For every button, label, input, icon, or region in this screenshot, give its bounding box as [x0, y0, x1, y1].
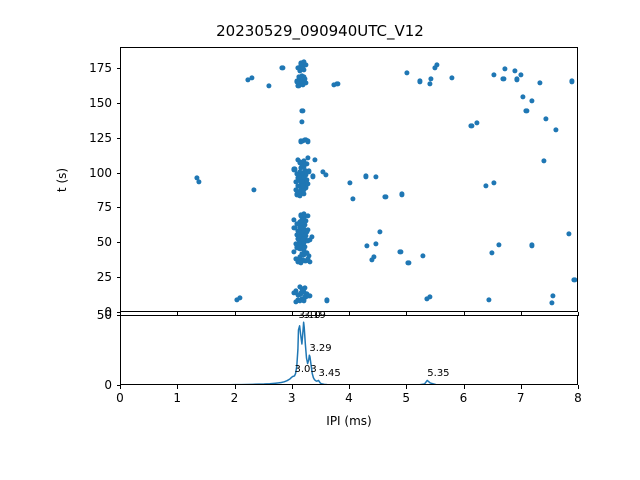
scatter-point — [428, 294, 433, 299]
x-tick-bottom — [120, 385, 121, 389]
peak-label: 3.03 — [294, 364, 316, 375]
scatter-point — [566, 231, 571, 236]
y-axis-label-top: t (s) — [55, 168, 69, 192]
scatter-point — [350, 196, 355, 201]
x-ticklabel: 7 — [517, 391, 525, 405]
x-ticklabel: 4 — [345, 391, 353, 405]
scatter-point — [325, 298, 330, 303]
x-ticklabel: 6 — [460, 391, 468, 405]
scatter-point — [434, 62, 439, 67]
y-tick-top — [117, 242, 121, 243]
x-ticklabel: 0 — [116, 391, 124, 405]
y-tick-top — [117, 68, 121, 69]
scatter-point — [377, 230, 382, 235]
scatter-point — [249, 75, 254, 80]
y-tick-top — [117, 207, 121, 208]
y-ticklabel-bottom: 0 — [0, 378, 112, 392]
scatter-point — [541, 158, 546, 163]
x-ticklabel: 8 — [574, 391, 582, 405]
scatter-point — [469, 124, 474, 129]
scatter-point — [551, 294, 556, 299]
scatter-point — [520, 94, 525, 99]
scatter-point — [572, 277, 577, 282]
y-tick-top — [117, 103, 121, 104]
scatter-point — [512, 68, 517, 73]
scatter-point — [310, 234, 315, 239]
x-tick-bottom — [292, 385, 293, 389]
scatter-point — [251, 188, 256, 193]
x-tick-bottom — [349, 385, 350, 389]
peak-label: 3.19 — [304, 310, 326, 321]
scatter-point — [492, 181, 497, 186]
scatter-point — [524, 108, 529, 113]
y-ticklabel-top: 175 — [0, 61, 112, 75]
y-ticklabel-top: 125 — [0, 131, 112, 145]
scatter-point — [537, 80, 542, 85]
scatter-point — [543, 117, 548, 122]
scatter-point — [518, 73, 523, 78]
scatter-point — [496, 242, 501, 247]
scatter-point — [305, 139, 310, 144]
scatter-point — [529, 243, 534, 248]
scatter-point — [406, 260, 411, 265]
scatter-point — [501, 76, 506, 81]
scatter-point — [449, 75, 454, 80]
scatter-point — [417, 79, 422, 84]
x-tick-top — [578, 312, 579, 316]
scatter-panel — [120, 47, 578, 312]
scatter-point — [300, 108, 305, 113]
peak-label: 3.45 — [319, 368, 341, 379]
page-title: 20230529_090940UTC_V12 — [0, 22, 640, 40]
scatter-point — [291, 249, 296, 254]
histogram-density-curve — [121, 316, 578, 385]
y-ticklabel-top: 25 — [0, 270, 112, 284]
scatter-point — [310, 174, 315, 179]
y-tick-top — [117, 277, 121, 278]
scatter-point — [549, 301, 554, 306]
scatter-point — [307, 294, 312, 299]
scatter-point — [529, 98, 534, 103]
x-ticklabel: 1 — [173, 391, 181, 405]
x-ticklabel: 3 — [288, 391, 296, 405]
scatter-point — [484, 183, 489, 188]
x-ticklabel: 5 — [402, 391, 410, 405]
x-tick-bottom — [464, 385, 465, 389]
scatter-point — [312, 157, 317, 162]
y-tick-top — [117, 173, 121, 174]
scatter-point — [280, 65, 285, 70]
scatter-point — [305, 156, 310, 161]
y-ticklabel-top: 150 — [0, 96, 112, 110]
y-tick-top — [117, 138, 121, 139]
y-ticklabel-top: 50 — [0, 235, 112, 249]
x-tick-bottom — [235, 385, 236, 389]
scatter-point — [421, 253, 426, 258]
x-tick-bottom — [578, 385, 579, 389]
scatter-point — [363, 174, 368, 179]
x-tick-bottom — [406, 385, 407, 389]
scatter-point — [305, 227, 310, 232]
scatter-point — [486, 297, 491, 302]
x-tick-bottom — [521, 385, 522, 389]
scatter-point — [307, 259, 312, 264]
y-ticklabel-bottom: 50 — [0, 308, 112, 322]
peak-label: 5.35 — [427, 368, 449, 379]
scatter-point — [515, 77, 520, 82]
scatter-point — [373, 174, 378, 179]
scatter-point — [502, 66, 507, 71]
scatter-point — [323, 172, 328, 177]
scatter-point — [302, 285, 307, 290]
matplotlib-figure: 20230529_090940UTC_V12 02550751001251501… — [0, 0, 640, 480]
y-ticklabel-top: 75 — [0, 200, 112, 214]
scatter-point — [371, 254, 376, 259]
scatter-point — [398, 249, 403, 254]
scatter-point — [347, 181, 352, 186]
x-axis-label: IPI (ms) — [326, 414, 371, 428]
scatter-point — [266, 83, 271, 88]
scatter-point — [405, 71, 410, 76]
scatter-point — [489, 250, 494, 255]
scatter-point — [570, 79, 575, 84]
scatter-point — [373, 241, 378, 246]
scatter-point — [299, 119, 304, 124]
scatter-point — [492, 72, 497, 77]
y-tick-bottom — [117, 315, 121, 316]
scatter-point — [365, 243, 370, 248]
histogram-panel — [120, 315, 578, 385]
peak-label: 3.29 — [309, 343, 331, 354]
scatter-point — [196, 179, 201, 184]
x-tick-bottom — [177, 385, 178, 389]
scatter-point — [475, 120, 480, 125]
scatter-point — [399, 192, 404, 197]
scatter-point — [335, 81, 340, 86]
scatter-point — [429, 76, 434, 81]
scatter-point — [554, 128, 559, 133]
scatter-point — [428, 81, 433, 86]
scatter-point — [237, 295, 242, 300]
scatter-point — [383, 195, 388, 200]
scatter-point — [306, 253, 311, 258]
x-ticklabel: 2 — [231, 391, 239, 405]
